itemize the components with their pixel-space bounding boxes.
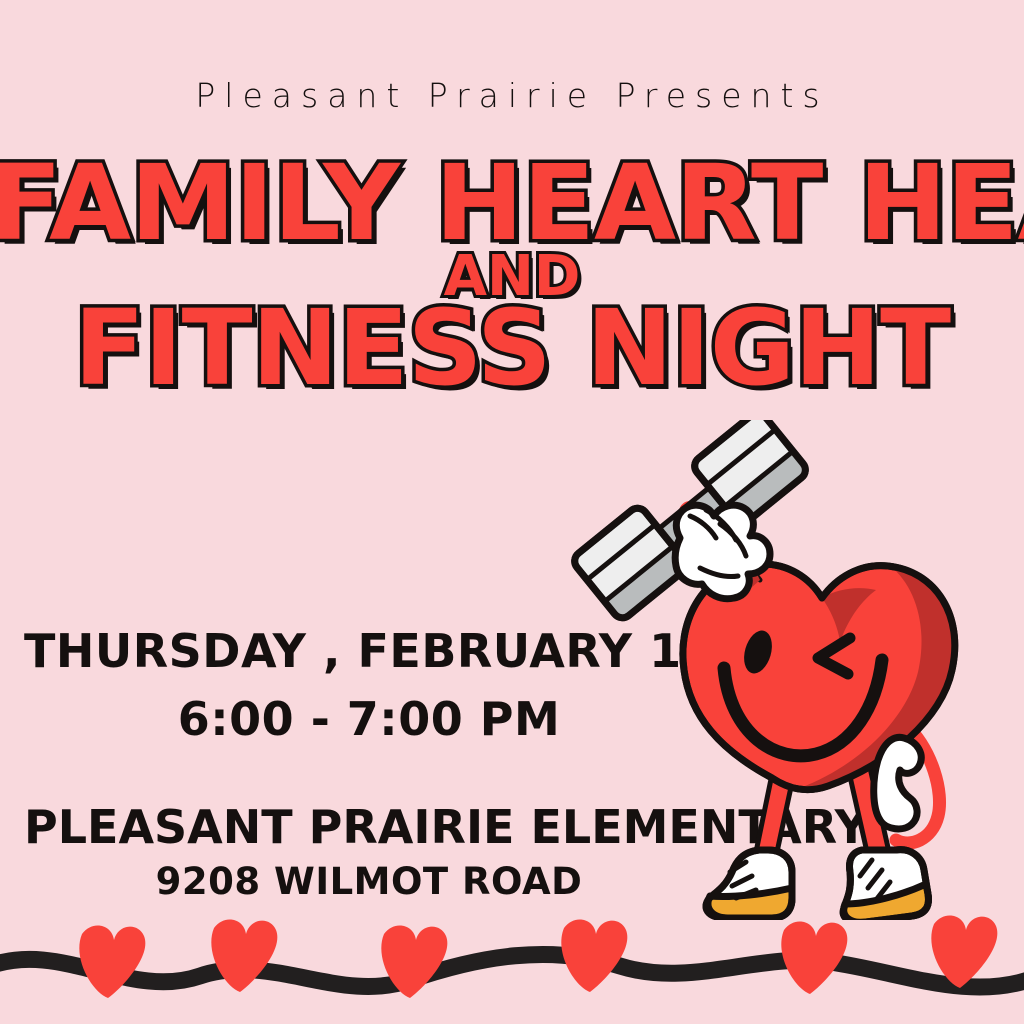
- border-heart: [561, 919, 627, 992]
- headline-line-3: FITNESS NIGHT: [0, 303, 1024, 395]
- heart-wave-border: [0, 914, 1024, 1024]
- headline-line-1: FAMILY HEART HEALTH: [0, 158, 1024, 250]
- presenter-line: Pleasant Prairie Presents: [0, 76, 1024, 115]
- headline-block: FAMILY HEART HEALTH AND FITNESS NIGHT: [0, 158, 1024, 394]
- poster-canvas: Pleasant Prairie Presents FAMILY HEART H…: [0, 0, 1024, 1024]
- border-heart: [211, 919, 277, 992]
- wave-line: [0, 954, 1024, 987]
- heart-mascot-illustration: [560, 420, 980, 920]
- border-heart: [781, 921, 847, 994]
